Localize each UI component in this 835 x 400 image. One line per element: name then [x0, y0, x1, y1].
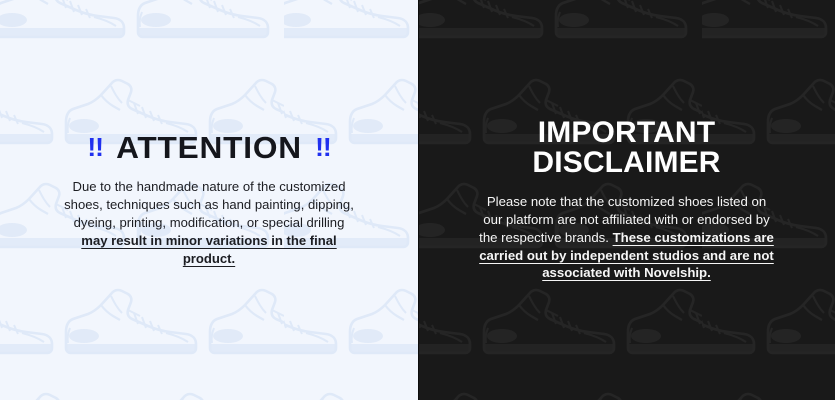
disclaimer-emphasis-line-1: These customizations are — [613, 230, 774, 245]
disclaimer-body-line-1: Please note that the customized shoes li… — [432, 193, 821, 211]
attention-panel: !! ATTENTION !! Due to the handmade natu… — [0, 0, 418, 400]
disclaimer-emphasis-line-2: carried out by independent studios and a… — [432, 247, 821, 265]
disclaimer-body-line-3-prefix: the respective brands. — [479, 230, 612, 245]
disclaimer-content: IMPORTANT DISCLAIMER Please note that th… — [418, 118, 835, 282]
attention-heading: !! ATTENTION !! — [10, 132, 408, 163]
attention-body: Due to the handmade nature of the custom… — [14, 178, 404, 268]
attention-emphasis-line-2: product. — [14, 250, 404, 268]
bang-right-icon: !! — [315, 134, 331, 160]
attention-emphasis-line-1: may result in minor variations in the fi… — [14, 232, 404, 250]
attention-body-line-2: shoes, techniques such as hand painting,… — [14, 196, 404, 214]
disclaimer-heading-line-1: IMPORTANT — [432, 118, 821, 149]
panel-divider — [418, 0, 419, 400]
attention-content: !! ATTENTION !! Due to the handmade natu… — [0, 132, 418, 268]
disclaimer-panel: IMPORTANT DISCLAIMER Please note that th… — [418, 0, 835, 400]
disclaimer-heading: IMPORTANT DISCLAIMER — [432, 118, 821, 179]
disclaimer-body-line-2: our platform are not affiliated with or … — [432, 211, 821, 229]
attention-title: ATTENTION — [116, 132, 302, 163]
attention-body-line-3: dyeing, printing, modification, or speci… — [14, 214, 404, 232]
attention-body-line-1: Due to the handmade nature of the custom… — [14, 178, 404, 196]
disclaimer-emphasis-line-3: associated with Novelship. — [432, 264, 821, 282]
disclaimer-heading-line-2: DISCLAIMER — [432, 148, 821, 179]
disclaimer-banner: !! ATTENTION !! Due to the handmade natu… — [0, 0, 835, 400]
disclaimer-body-line-3: the respective brands. These customizati… — [432, 229, 821, 247]
bang-left-icon: !! — [87, 134, 103, 160]
disclaimer-body: Please note that the customized shoes li… — [432, 193, 821, 282]
